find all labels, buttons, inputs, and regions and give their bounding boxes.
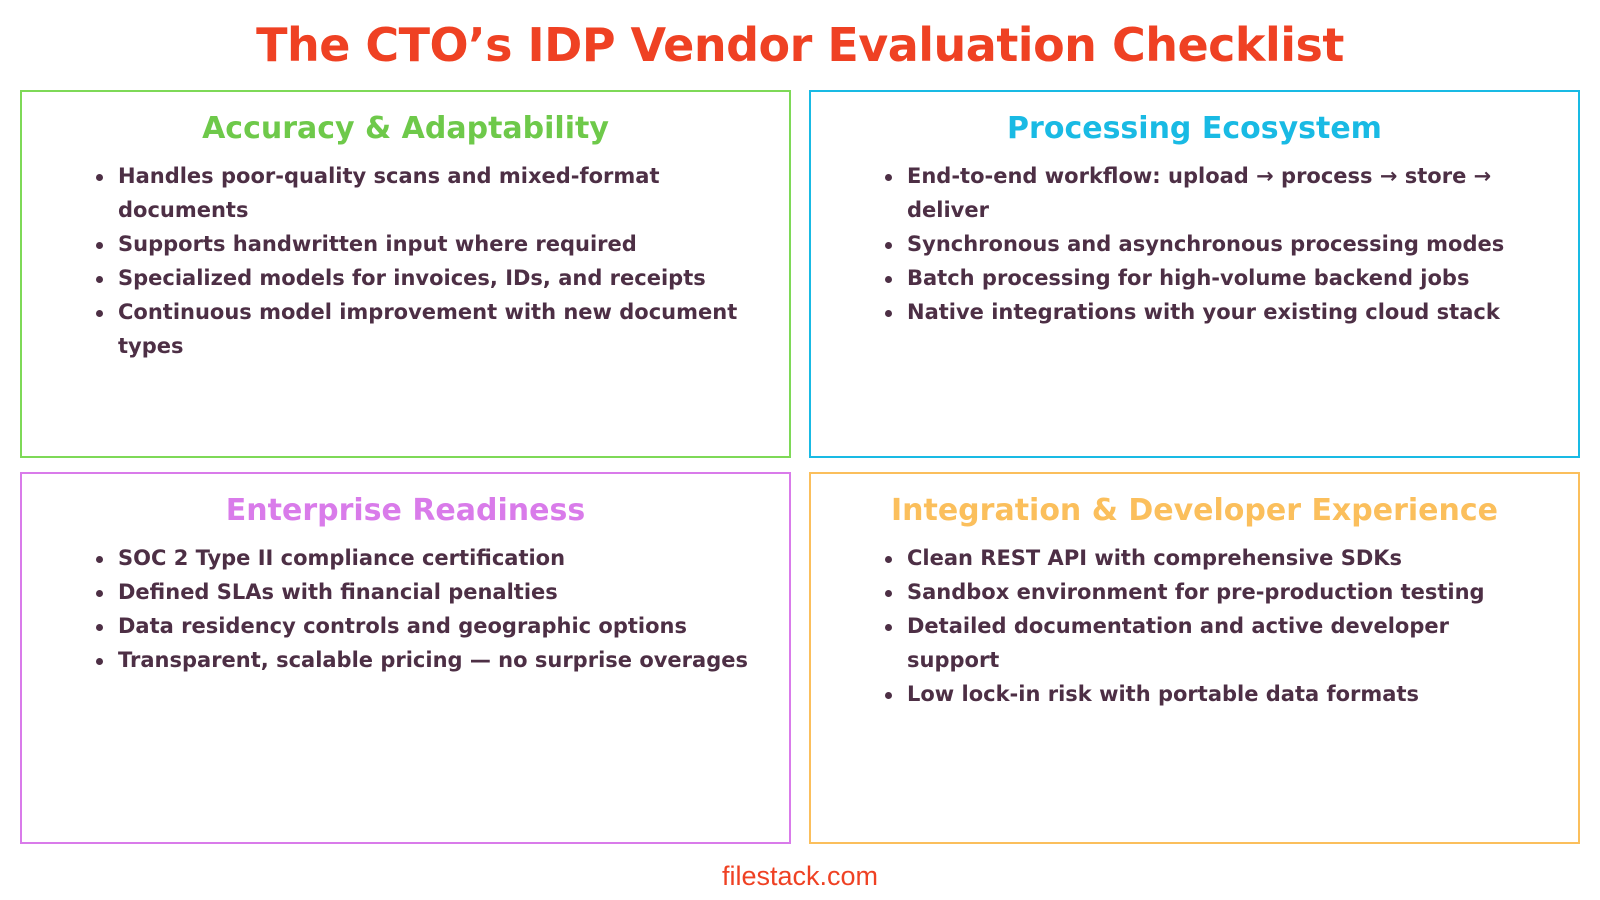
card-title-integration-developer-experience: Integration & Developer Experience (819, 494, 1570, 527)
list-item: Synchronous and asynchronous processing … (885, 227, 1544, 261)
card-enterprise-readiness: Enterprise Readiness SOC 2 Type II compl… (20, 472, 791, 844)
brand-label: filestack.com (722, 861, 878, 891)
list-item: Batch processing for high-volume backend… (885, 261, 1544, 295)
card-integration-developer-experience: Integration & Developer Experience Clean… (809, 472, 1580, 844)
list-item: Supports handwritten input where require… (96, 227, 755, 261)
card-title-enterprise-readiness: Enterprise Readiness (30, 494, 781, 527)
card-accuracy-adaptability: Accuracy & Adaptability Handles poor-qua… (20, 90, 791, 458)
list-item: Defined SLAs with financial penalties (96, 575, 755, 609)
card-processing-ecosystem: Processing Ecosystem End-to-end workflow… (809, 90, 1580, 458)
list-item: Clean REST API with comprehensive SDKs (885, 541, 1544, 575)
footer: filestack.com (0, 861, 1600, 892)
card-list-enterprise-readiness: SOC 2 Type II compliance certification D… (30, 541, 781, 677)
list-item: SOC 2 Type II compliance certification (96, 541, 755, 575)
page-title: The CTO’s IDP Vendor Evaluation Checklis… (0, 0, 1600, 68)
card-list-integration-developer-experience: Clean REST API with comprehensive SDKs S… (819, 541, 1570, 711)
card-title-accuracy-adaptability: Accuracy & Adaptability (30, 112, 781, 145)
list-item: Native integrations with your existing c… (885, 295, 1544, 329)
list-item: Continuous model improvement with new do… (96, 295, 755, 363)
list-item: Handles poor-quality scans and mixed-for… (96, 159, 755, 227)
list-item: Transparent, scalable pricing — no surpr… (96, 643, 755, 677)
list-item: Sandbox environment for pre-production t… (885, 575, 1544, 609)
list-item: Specialized models for invoices, IDs, an… (96, 261, 755, 295)
card-list-processing-ecosystem: End-to-end workflow: upload → process → … (819, 159, 1570, 329)
list-item: End-to-end workflow: upload → process → … (885, 159, 1544, 227)
card-list-accuracy-adaptability: Handles poor-quality scans and mixed-for… (30, 159, 781, 363)
list-item: Low lock-in risk with portable data form… (885, 677, 1544, 711)
checklist-grid: Accuracy & Adaptability Handles poor-qua… (20, 90, 1580, 844)
list-item: Detailed documentation and active develo… (885, 609, 1544, 677)
card-title-processing-ecosystem: Processing Ecosystem (819, 112, 1570, 145)
list-item: Data residency controls and geographic o… (96, 609, 755, 643)
